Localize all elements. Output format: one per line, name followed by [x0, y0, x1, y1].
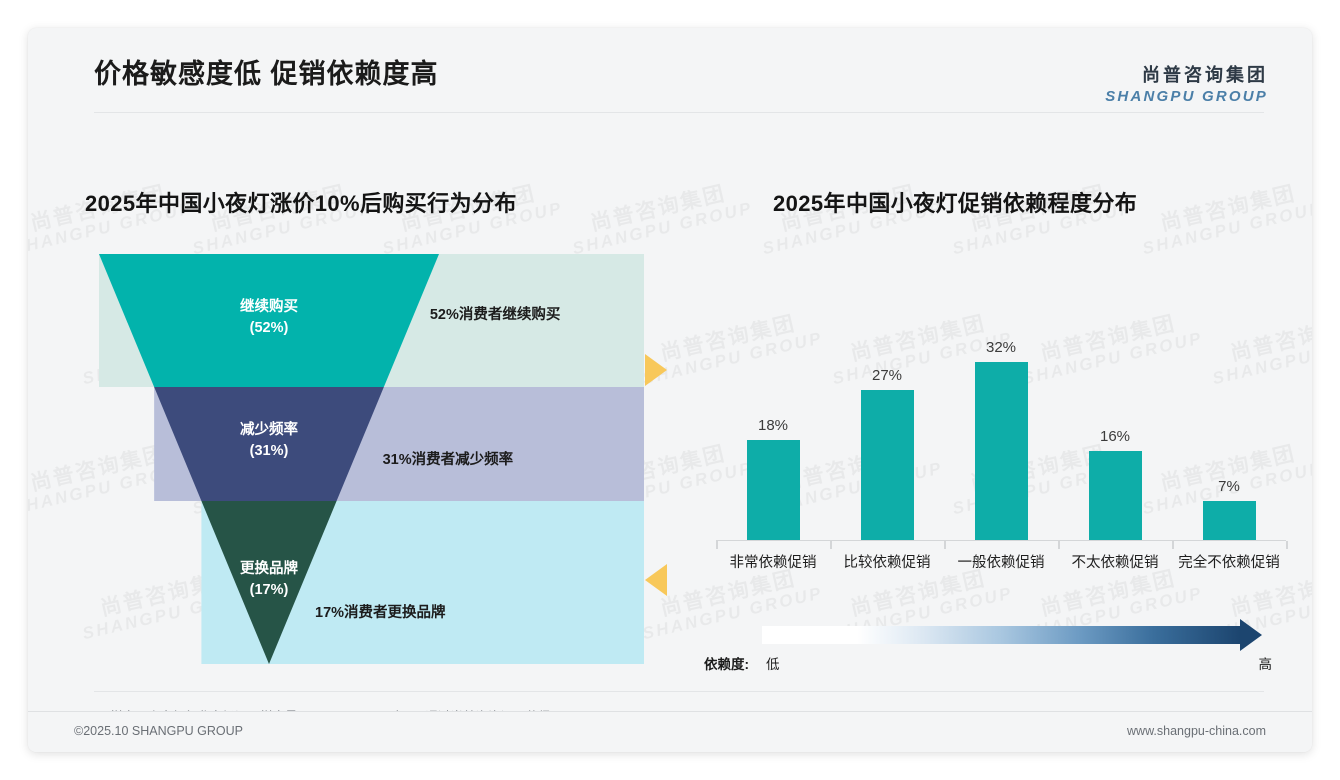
- page-title: 价格敏感度低 促销依赖度高: [94, 52, 439, 91]
- bar-category-label: 完全不依赖促销: [1170, 551, 1288, 572]
- x-axis-tick: [1286, 541, 1288, 549]
- funnel-band-label: 52%消费者继续购买: [430, 303, 561, 324]
- watermark-text: 尚普咨询集团SHANGPU GROUP: [1136, 178, 1312, 258]
- left-chart-title: 2025年中国小夜灯涨价10%后购买行为分布: [85, 186, 517, 218]
- x-axis-tick: [830, 541, 832, 549]
- bar-chart: 18%非常依赖促销27%比较依赖促销32%一般依赖促销16%不太依赖促销7%完全…: [704, 278, 1294, 598]
- bar-column: 18%: [717, 295, 829, 540]
- bar-rect: [747, 440, 800, 540]
- funnel-band-label: 31%消费者减少频率: [383, 448, 514, 469]
- x-axis-tick: [944, 541, 946, 549]
- brand-name-en: SHANGPU GROUP: [1105, 88, 1268, 105]
- bar-rect: [1203, 501, 1256, 540]
- header-divider: [94, 112, 1264, 113]
- funnel-segment-label: 减少频率(31%): [199, 420, 339, 462]
- x-axis-tick: [1172, 541, 1174, 549]
- gradient-bar: [762, 626, 1240, 644]
- legend-high-label: 高: [1259, 653, 1273, 673]
- bar-column: 32%: [945, 295, 1057, 540]
- bar-category-label: 一般依赖促销: [942, 551, 1060, 572]
- bar-rect: [861, 390, 914, 540]
- footnote-divider: [94, 691, 1264, 692]
- slide-canvas: 尚普咨询集团SHANGPU GROUP尚普咨询集团SHANGPU GROUP尚普…: [28, 28, 1312, 752]
- slide-footer: ©2025.10 SHANGPU GROUP www.shangpu-china…: [28, 712, 1312, 752]
- funnel-chart: 继续购买(52%)52%消费者继续购买减少频率(31%)31%消费者减少频率更换…: [99, 254, 644, 664]
- slide-header: 价格敏感度低 促销依赖度高 尚普咨询集团 SHANGPU GROUP: [28, 28, 1312, 114]
- bar-value-label: 7%: [1218, 478, 1240, 495]
- bar-value-label: 16%: [1100, 428, 1130, 445]
- website-text: www.shangpu-china.com: [1127, 724, 1266, 738]
- bar-category-label: 非常依赖促销: [714, 551, 832, 572]
- bar-rect: [1089, 451, 1142, 540]
- bar-category-label: 不太依赖促销: [1056, 551, 1174, 572]
- watermark-text: 尚普咨询集团SHANGPU GROUP: [566, 178, 755, 258]
- funnel-band-label: 17%消费者更换品牌: [315, 601, 446, 622]
- bar-category-label: 比较依赖促销: [828, 551, 946, 572]
- copyright-text: ©2025.10 SHANGPU GROUP: [74, 724, 243, 738]
- gradient-arrow-icon: [1240, 619, 1262, 651]
- marker-triangle-right-icon: [645, 354, 667, 386]
- brand-name-cn: 尚普咨询集团: [1105, 61, 1268, 87]
- funnel-segment-value: (52%): [250, 320, 289, 336]
- funnel-segment-name: 减少频率: [240, 422, 298, 438]
- x-axis-tick: [716, 541, 718, 549]
- funnel-segment-label: 更换品牌(17%): [199, 559, 339, 601]
- bar-value-label: 18%: [758, 417, 788, 434]
- brand-logo: 尚普咨询集团 SHANGPU GROUP: [1105, 61, 1268, 105]
- right-chart-title: 2025年中国小夜灯促销依赖程度分布: [773, 186, 1137, 218]
- bar-value-label: 27%: [872, 367, 902, 384]
- funnel-segment-value: (31%): [250, 443, 289, 459]
- bar-column: 27%: [831, 295, 943, 540]
- funnel-segment-value: (17%): [250, 582, 289, 598]
- bar-column: 7%: [1173, 295, 1285, 540]
- dependency-gradient-legend: 依赖度: 低 高: [704, 618, 1294, 680]
- legend-low-label: 低: [766, 653, 780, 673]
- funnel-segment-name: 继续购买: [240, 299, 298, 315]
- funnel-segment-label: 继续购买(52%): [199, 297, 339, 339]
- legend-label: 依赖度:: [704, 653, 749, 673]
- bar-column: 16%: [1059, 295, 1171, 540]
- x-axis-tick: [1058, 541, 1060, 549]
- bar-rect: [975, 362, 1028, 540]
- bar-value-label: 32%: [986, 339, 1016, 356]
- funnel-segment-name: 更换品牌: [240, 561, 298, 577]
- marker-triangle-left-icon: [645, 564, 667, 596]
